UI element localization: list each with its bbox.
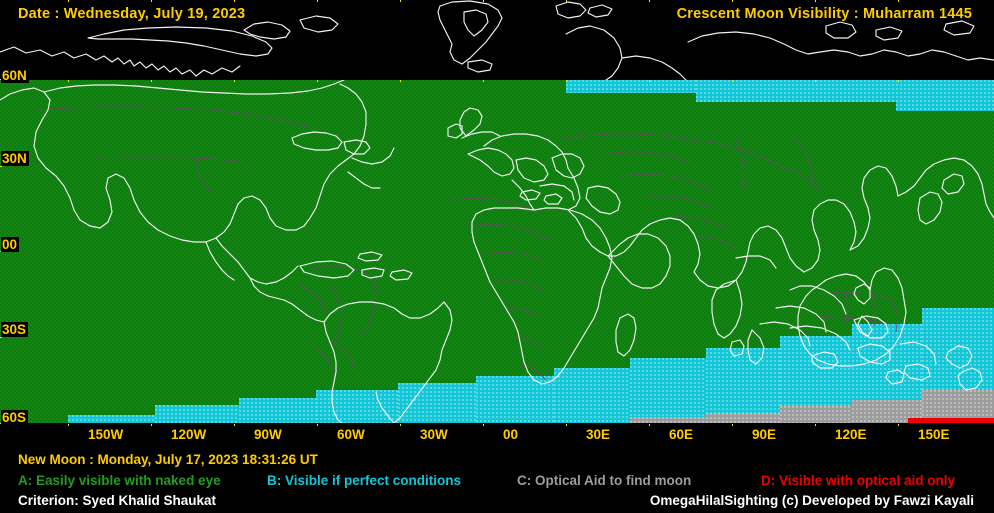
lon-label-90e: 90E	[752, 427, 776, 442]
legend-item-d: D: Visible with optical aid only	[761, 473, 955, 488]
tickline-00	[483, 424, 484, 442]
visibility-map	[0, 80, 994, 423]
lat-label-60n: 60N	[1, 68, 29, 83]
tickline-120e	[815, 424, 816, 442]
lon-label-60e: 60E	[669, 427, 693, 442]
lat-label-00: 00	[1, 237, 19, 252]
tickline-60w	[317, 424, 318, 442]
tickline-30e	[566, 424, 567, 442]
tickline-90e	[732, 424, 733, 442]
lon-label-60w: 60W	[337, 427, 365, 442]
tickline-60e	[649, 424, 650, 442]
new-moon-label: New Moon : Monday, July 17, 2023 18:31:2…	[18, 452, 318, 467]
criterion-label: Criterion: Syed Khalid Shaukat	[18, 493, 216, 508]
graticule-lat-60n	[0, 79, 994, 80]
tickline-90w	[234, 424, 235, 442]
legend-item-a: A: Easily visible with naked eye	[18, 473, 221, 488]
lon-label-90w: 90W	[254, 427, 282, 442]
lat-label-30s: 30S	[1, 322, 28, 337]
legend-item-c: C: Optical Aid to find moon	[517, 473, 691, 488]
world-coastlines	[0, 80, 994, 423]
graticule-lat-60s	[0, 423, 994, 424]
moon-visibility-map-window: Date : Wednesday, July 19, 2023 Crescent…	[0, 0, 994, 513]
lon-label-30e: 30E	[586, 427, 610, 442]
tickline-30w	[400, 424, 401, 442]
lon-label-120w: 120W	[171, 427, 206, 442]
tickline-150w	[68, 424, 69, 442]
credit-label: OmegaHilalSighting (c) Developed by Fawz…	[650, 493, 974, 508]
lon-label-150e: 150E	[918, 427, 950, 442]
lon-label-00: 00	[503, 427, 518, 442]
tickline-120w	[151, 424, 152, 442]
tickline-150e	[898, 424, 899, 442]
date-label: Date : Wednesday, July 19, 2023	[18, 6, 245, 22]
lon-label-120e: 120E	[835, 427, 867, 442]
legend-item-b: B: Visible if perfect conditions	[267, 473, 461, 488]
page-title: Crescent Moon Visibility : Muharram 1445	[677, 6, 972, 22]
lon-label-30w: 30W	[420, 427, 448, 442]
lat-label-60s: 60S	[1, 410, 28, 425]
lon-label-150w: 150W	[88, 427, 123, 442]
lat-label-30n: 30N	[1, 151, 29, 166]
